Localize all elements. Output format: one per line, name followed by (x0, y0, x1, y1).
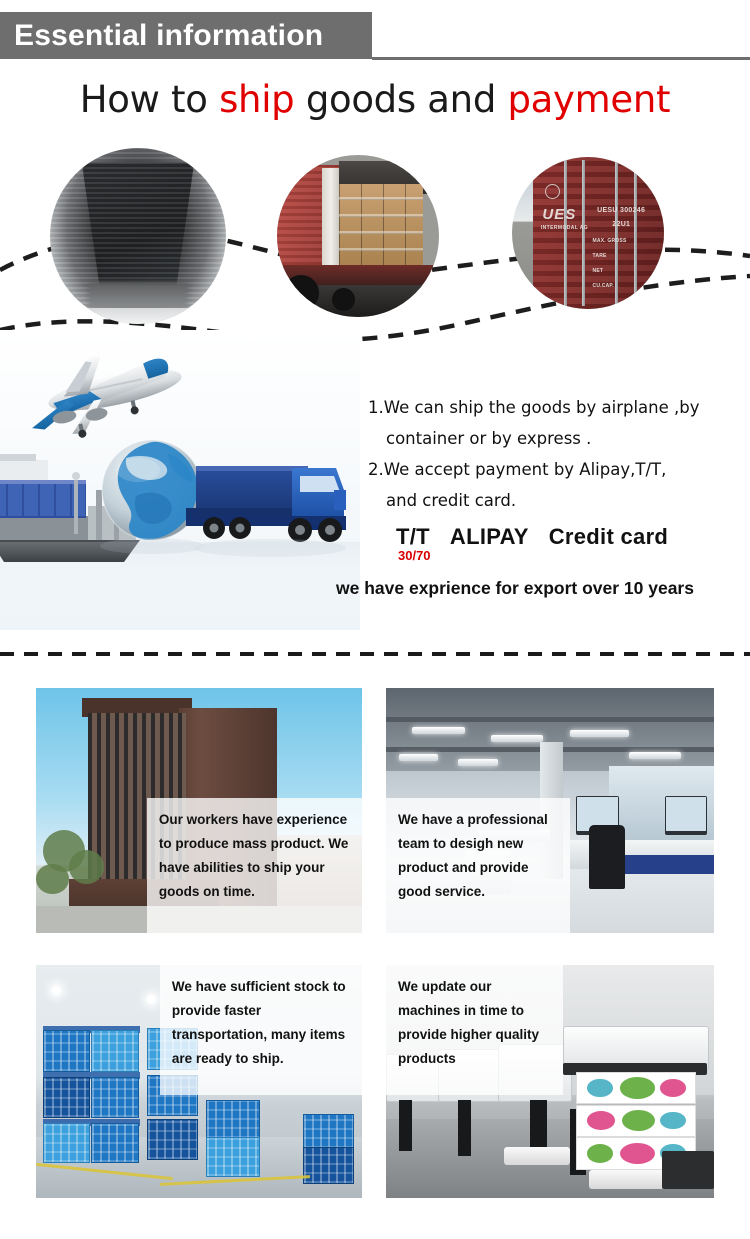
logistics-montage (0, 330, 360, 630)
section-header-title: Essential information (0, 21, 323, 51)
shipping-info-line-3: 2.We accept payment by Alipay,T/T, (368, 454, 750, 485)
shipping-photo-empty-container (50, 148, 226, 324)
shipping-info-block: 1.We can ship the goods by airplane ,by … (368, 392, 750, 563)
office-chair (589, 825, 625, 889)
photo-caption-overlay: We have a professional team to desigh ne… (386, 798, 570, 933)
shipping-info-line-1: 1.We can ship the goods by airplane ,by (368, 392, 750, 423)
shipping-info-line-2: container or by express . (368, 423, 750, 454)
ceiling-beam (386, 717, 714, 722)
cardboard-box-labels (339, 184, 423, 268)
page-title-highlight-payment: payment (507, 78, 670, 121)
container-logo-subtext: INTERMODAL AG (541, 225, 588, 231)
page-title-part1: How to (80, 78, 219, 121)
crate-stack (303, 1114, 354, 1149)
print-art (622, 1110, 655, 1131)
printed-sheet (576, 1072, 696, 1104)
truck-container-door (322, 168, 340, 268)
photo-caption-text: We update our machines in time to provid… (398, 975, 553, 1071)
photo-caption-overlay: We update our machines in time to provid… (386, 965, 563, 1095)
payment-methods-row: T/TALIPAYCredit card (368, 524, 750, 550)
warehouse-lamp (147, 995, 156, 1004)
print-art (587, 1144, 613, 1163)
container-lock-bar (615, 160, 618, 306)
container-logo-text: UES (542, 206, 576, 223)
payment-method-tt: T/T (396, 524, 430, 549)
essential-information-page: Essential information How to ship goods … (0, 0, 750, 1239)
page-title: How to ship goods and payment (0, 78, 750, 121)
photo-caption-text: We have sufficient stock to provide fast… (172, 975, 352, 1071)
feature-photo-warehouse: We have sufficient stock to provide fast… (36, 965, 362, 1198)
feature-photo-grid: Our workers have experience to produce m… (0, 688, 750, 1208)
ceiling-lamp (458, 759, 497, 766)
tree (69, 850, 105, 884)
header-rule (372, 57, 750, 60)
ceiling-lamp (412, 727, 464, 734)
container-spec-row: TARE (593, 253, 607, 259)
printer-leg (399, 1100, 412, 1151)
print-art (587, 1111, 615, 1130)
shipping-info-line-4: and credit card. (368, 485, 750, 516)
ground-reflection (0, 538, 360, 602)
print-art (620, 1143, 655, 1164)
payment-terms: 30/70 (368, 548, 750, 563)
container-spec-row: MAX. GROSS (593, 238, 627, 244)
container-base (64, 308, 212, 324)
print-art (587, 1079, 613, 1098)
crate (91, 1030, 139, 1072)
photo-caption-text: We have a professional team to desigh ne… (398, 808, 560, 904)
shipping-photo-loaded-truck (277, 155, 439, 317)
tree (36, 864, 69, 893)
photo-caption-overlay: Our workers have experience to produce m… (147, 798, 362, 933)
payment-method-credit-card: Credit card (549, 524, 668, 549)
ceiling-lamp (491, 735, 543, 742)
monitor (665, 796, 708, 835)
paper-roll (504, 1147, 570, 1166)
ceiling-lamp (629, 752, 681, 759)
page-title-highlight-ship: ship (219, 78, 294, 121)
container-spec-row: CU.CAP. (593, 283, 614, 289)
export-experience-text: we have exprience for export over 10 yea… (336, 578, 694, 599)
container-type-code: 22U1 (612, 221, 630, 228)
print-art (660, 1112, 686, 1130)
container-code: UESU 300246 (597, 207, 645, 214)
shipping-photo-container-door: UES INTERMODAL AG UESU 300246 22U1 MAX. … (512, 157, 664, 309)
crate (147, 1119, 198, 1161)
feature-photo-printing-machines: We update our machines in time to provid… (386, 965, 714, 1198)
photo-caption-overlay: We have sufficient stock to provide fast… (160, 965, 362, 1095)
container-floor (89, 282, 188, 310)
print-art (620, 1077, 655, 1098)
container-lock-bar (564, 160, 567, 306)
machine-base (662, 1151, 714, 1188)
crate (43, 1030, 91, 1072)
crate (43, 1123, 91, 1162)
crate (91, 1123, 139, 1162)
section-divider (0, 652, 750, 656)
section-header-badge: Essential information (0, 12, 372, 59)
container-spec-row: NET (593, 268, 604, 274)
photo-caption-text: Our workers have experience to produce m… (159, 808, 352, 904)
printed-sheet (576, 1105, 696, 1137)
feature-photo-design-office: We have a professional team to desigh ne… (386, 688, 714, 933)
crate (43, 1077, 91, 1119)
truck-wheel (332, 288, 355, 311)
payment-method-alipay: ALIPAY (450, 524, 529, 549)
feature-photo-office-building: Our workers have experience to produce m… (36, 688, 362, 933)
monitor-screen (666, 797, 707, 831)
crate (91, 1077, 139, 1119)
printer-leg (458, 1100, 471, 1156)
print-art (660, 1079, 686, 1097)
crate-stack (206, 1137, 260, 1176)
container-lock-bar (582, 160, 585, 306)
crate-stack (303, 1147, 354, 1184)
page-title-part2: goods and (294, 78, 507, 121)
ceiling-lamp (570, 730, 629, 737)
ceiling-lamp (399, 754, 438, 761)
container-lock-bar (634, 160, 637, 306)
crate-stack (206, 1100, 260, 1139)
warehouse-lamp (52, 986, 61, 995)
truck-wheel (283, 275, 319, 311)
